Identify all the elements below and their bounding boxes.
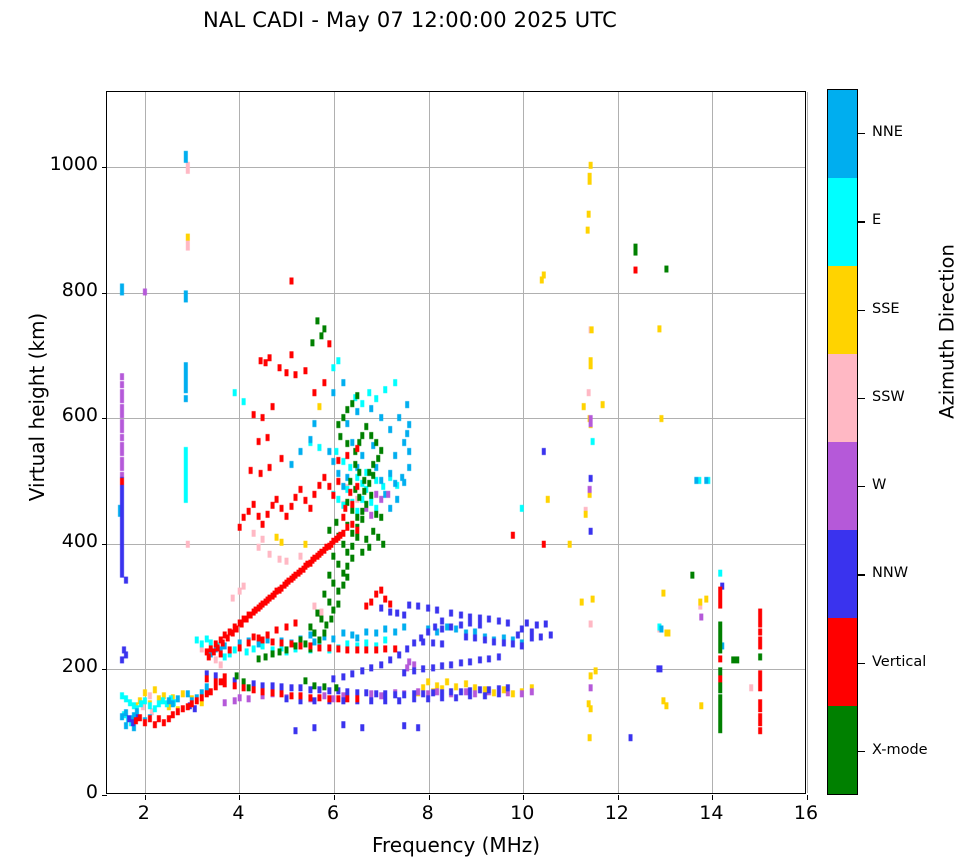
colorbar-segment-x-mode[interactable]: [828, 706, 857, 794]
x-axis-title: Frequency (MHz): [106, 833, 806, 857]
x-tick-label: 16: [776, 802, 836, 824]
colorbar-label-sse: SSE: [872, 301, 900, 317]
colorbar-segment-nnw[interactable]: [828, 530, 857, 618]
y-tick: [102, 418, 107, 419]
page-title: NAL CADI - May 07 12:00:00 2025 UTC: [0, 8, 820, 32]
x-tick: [712, 795, 713, 800]
colorbar-label-vertical: Vertical: [872, 654, 926, 670]
colorbar-tick: [858, 486, 865, 487]
x-tick: [429, 795, 430, 800]
ionogram-plot: [106, 91, 806, 794]
y-tick: [102, 795, 107, 796]
x-tick-label: 6: [303, 802, 363, 824]
colorbar-tick: [858, 663, 865, 664]
x-tick: [145, 795, 146, 800]
colorbar-segment-e[interactable]: [828, 178, 857, 266]
colorbar-label-nne: NNE: [872, 124, 903, 140]
y-axis-title: Virtual height (km): [25, 257, 49, 557]
colorbar-tick: [858, 133, 865, 134]
x-tick: [334, 795, 335, 800]
x-tick-label: 8: [398, 802, 458, 824]
scatter-data-layer: [107, 92, 805, 793]
gridline-vertical: [807, 92, 808, 793]
colorbar-segment-nne[interactable]: [828, 90, 857, 178]
colorbar-label-nnw: NNW: [872, 565, 908, 581]
x-tick-label: 12: [587, 802, 647, 824]
colorbar-segment-ssw[interactable]: [828, 354, 857, 442]
y-tick-label: 0: [28, 781, 98, 803]
y-tick-label: 200: [28, 655, 98, 677]
colorbar-label-w: W: [872, 477, 886, 493]
x-tick: [618, 795, 619, 800]
colorbar-segment-vertical[interactable]: [828, 618, 857, 706]
x-tick: [239, 795, 240, 800]
y-tick: [102, 669, 107, 670]
colorbar-segment-sse[interactable]: [828, 266, 857, 354]
colorbar-title: Azimuth Direction: [936, 202, 959, 462]
colorbar-label-e: E: [872, 212, 881, 228]
x-tick: [523, 795, 524, 800]
x-tick-label: 4: [208, 802, 268, 824]
x-tick-label: 14: [681, 802, 741, 824]
x-tick-label: 2: [114, 802, 174, 824]
colorbar-tick: [858, 398, 865, 399]
colorbar-segment-w[interactable]: [828, 442, 857, 530]
colorbar-tick: [858, 310, 865, 311]
colorbar-tick: [858, 221, 865, 222]
colorbar-tick: [858, 574, 865, 575]
colorbar-tick: [858, 751, 865, 752]
colorbar-label-x-mode: X-mode: [872, 742, 928, 758]
colorbar-label-ssw: SSW: [872, 389, 905, 405]
y-tick-label: 1000: [28, 153, 98, 175]
colorbar[interactable]: [827, 89, 858, 795]
y-tick: [102, 544, 107, 545]
x-tick: [807, 795, 808, 800]
y-tick: [102, 167, 107, 168]
x-tick-label: 10: [492, 802, 552, 824]
y-tick: [102, 293, 107, 294]
